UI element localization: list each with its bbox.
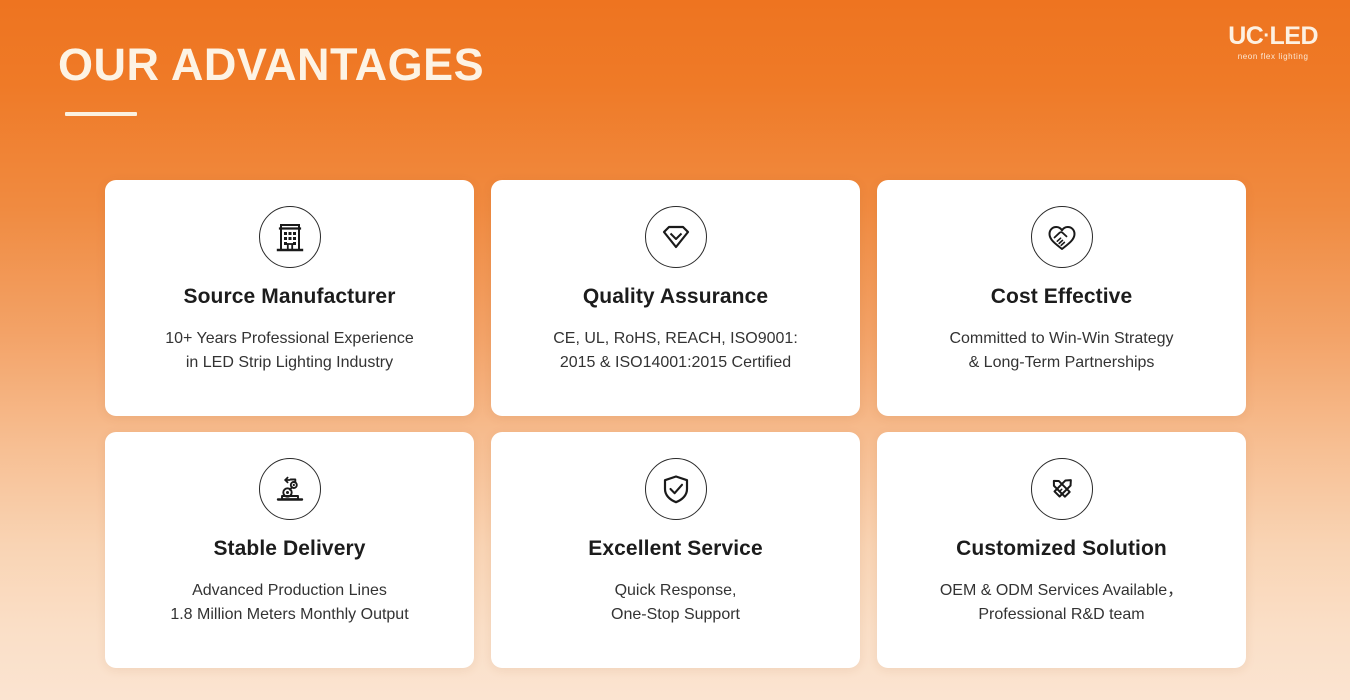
card-description: CE, UL, RoHS, REACH, ISO9001: 2015 & ISO… — [539, 327, 812, 376]
card-description: Committed to Win-Win Strategy & Long-Ter… — [935, 327, 1187, 376]
card-title: Source Manufacturer — [184, 285, 396, 309]
logo-tagline: neon flex lighting — [1228, 53, 1318, 61]
shield-check-icon — [645, 458, 707, 520]
robot-arm-icon — [259, 458, 321, 520]
card-description: 10+ Years Professional Experience in LED… — [151, 327, 428, 376]
card-description: Quick Response, One-Stop Support — [597, 579, 754, 628]
advantage-card[interactable]: Stable Delivery Advanced Production Line… — [105, 432, 474, 668]
card-description: Advanced Production Lines 1.8 Million Me… — [156, 579, 422, 628]
advantage-card[interactable]: Quality Assurance CE, UL, RoHS, REACH, I… — [491, 180, 860, 416]
diamond-icon — [645, 206, 707, 268]
card-description: OEM & ODM Services Available， Profession… — [926, 579, 1197, 628]
pencil-ruler-icon — [1031, 458, 1093, 520]
logo-text-led: LED — [1270, 22, 1319, 50]
title-accent-bar — [65, 112, 137, 116]
card-title: Quality Assurance — [583, 285, 768, 309]
page-title: OUR ADVANTAGES — [58, 42, 484, 87]
card-title: Customized Solution — [956, 537, 1167, 561]
brand-logo: UC·LED neon flex lighting — [1228, 24, 1318, 61]
page-header: OUR ADVANTAGES UC·LED neon flex lighting — [0, 0, 1350, 170]
logo-wordmark: UC·LED — [1228, 24, 1318, 49]
card-title: Excellent Service — [588, 537, 762, 561]
card-title: Stable Delivery — [213, 537, 365, 561]
handshake-heart-icon — [1031, 206, 1093, 268]
advantage-card[interactable]: Cost Effective Committed to Win-Win Stra… — [877, 180, 1246, 416]
card-title: Cost Effective — [991, 285, 1132, 309]
logo-text-uc: UC — [1228, 22, 1263, 50]
advantages-grid: Source Manufacturer 10+ Years Profession… — [105, 180, 1245, 668]
advantage-card[interactable]: Customized Solution OEM & ODM Services A… — [877, 432, 1246, 668]
advantage-card[interactable]: Excellent Service Quick Response, One-St… — [491, 432, 860, 668]
advantage-card[interactable]: Source Manufacturer 10+ Years Profession… — [105, 180, 474, 416]
building-icon — [259, 206, 321, 268]
